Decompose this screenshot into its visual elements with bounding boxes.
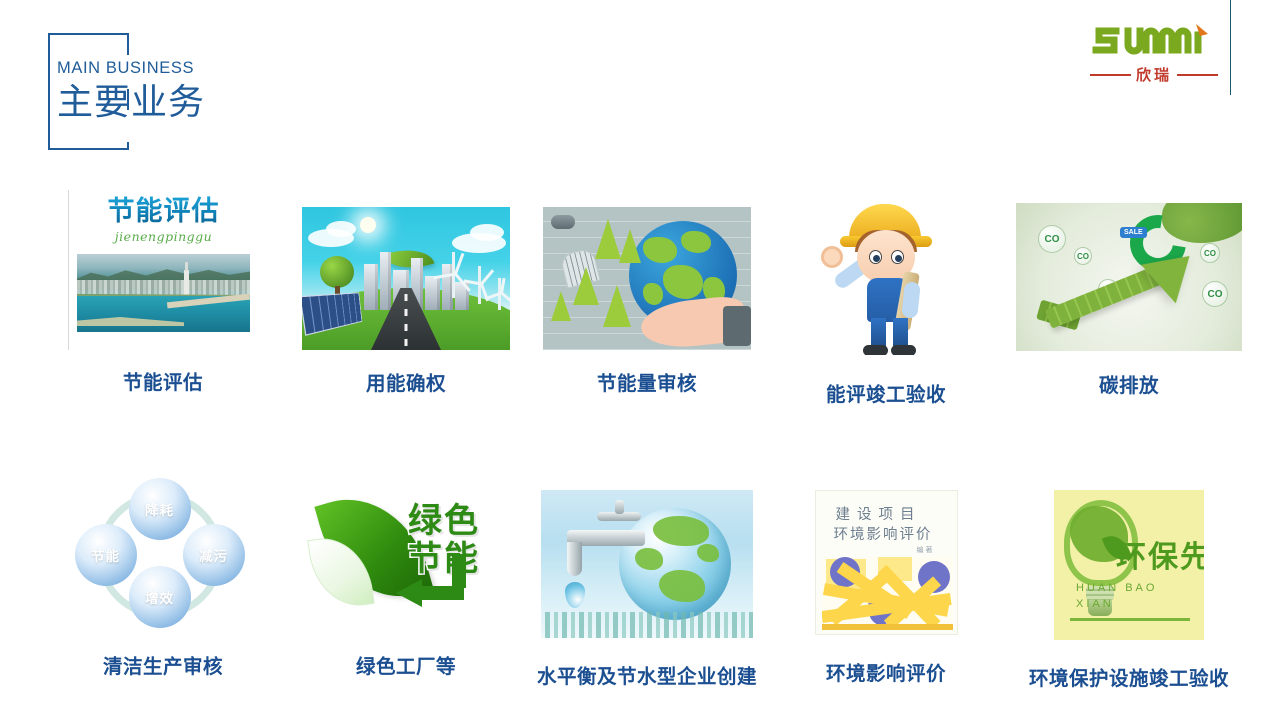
business-item-acceptance-inspection[interactable]: 能评竣工验收 [768,190,1004,407]
logo-divider-line [1230,0,1231,95]
business-item-env-facility-acceptance[interactable]: 环保先 HUAN BAO XIAN 环境保护设施竣工验收 [1004,478,1254,691]
thumb-bulb-eco-poster: 环保先 HUAN BAO XIAN [1054,490,1204,640]
ok-gesture-hand-icon [821,246,843,268]
bulb-poster-pinyin-1: HUAN BAO [1076,582,1157,594]
leaf-logo-line1: 绿色 [388,502,500,540]
business-item-energy-assessment[interactable]: 节能评估 jienengpinggu 节能评估 [48,190,278,407]
slide-root: MAIN BUSINESS 主要业务 欣瑞 [0,0,1280,720]
leaf-logo-line2: 节能 [388,540,500,578]
caption-water-balance: 水平衡及节水型企业创建 [537,660,757,689]
thumb-tap-globe [541,490,753,638]
business-item-water-balance[interactable]: 水平衡及节水型企业创建 [528,478,766,691]
poster-landscape-photo [77,254,250,332]
page-title-english: MAIN BUSINESS [57,58,477,78]
thumb-worker-cartoon [811,200,961,355]
book-cover-artwork [822,557,953,627]
poster-title-text: 节能评估 [108,196,220,228]
logo-rule-left [1090,74,1131,76]
logo-chinese-row: 欣瑞 [1090,64,1218,85]
co2-sale-badge: SALE [1120,227,1147,238]
cycle-node-right: 减污 [183,524,245,586]
cycle-node-bottom: 增效 [129,566,191,628]
caption-cleaner-production: 清洁生产审核 [103,650,223,679]
business-row-2: 降耗 节能 减污 增效 清洁生产审核 绿色 节能 绿色工厂等 [0,478,1280,691]
book-title-line1: 建设项目 [836,503,922,524]
caption-carbon-emission: 碳排放 [1099,369,1159,398]
logo-wordmark-icon [1090,22,1218,62]
company-logo: 欣瑞 [1090,22,1218,84]
thumb-energy-assessment-poster: 节能评估 jienengpinggu [68,190,258,350]
thumb-green-leaf-logo: 绿色 节能 [306,478,506,628]
caption-energy-assessment: 节能评估 [123,366,203,395]
page-title-block: MAIN BUSINESS 主要业务 [57,58,477,126]
book-author-text: 编著 [917,545,935,555]
book-title-line2: 环境影响评价 [834,523,933,544]
cycle-node-left: 节能 [75,524,137,586]
business-row-1: 节能评估 jienengpinggu 节能评估 [0,190,1280,407]
business-item-carbon-emission[interactable]: SALE CO CO CO CO CO 碳排放 [1004,190,1254,407]
thumb-carbon-arrow: SALE CO CO CO CO CO [1016,203,1242,351]
caption-energy-rights: 用能确权 [366,367,446,396]
business-item-green-factory[interactable]: 绿色 节能 绿色工厂等 [286,478,526,691]
caption-eia: 环境影响评价 [826,657,946,686]
bulb-poster-chinese: 环保先 [1116,532,1204,576]
logo-rule-right [1177,74,1218,76]
caption-env-facility-acceptance: 环境保护设施竣工验收 [1029,662,1229,691]
thumb-globe-in-hand [543,207,751,350]
business-item-energy-rights[interactable]: 用能确权 [286,190,526,407]
green-arrow-graphic [1038,247,1206,333]
thumb-eco-city [302,207,510,350]
caption-green-factory: 绿色工厂等 [356,650,456,679]
logo-chinese-name: 欣瑞 [1136,64,1172,85]
business-item-energy-saving-audit[interactable]: 节能量审核 [528,190,766,407]
business-item-eia[interactable]: 建设项目 环境影响评价 编著 环境影响评价 [768,478,1004,691]
cycle-node-top: 降耗 [129,478,191,540]
caption-energy-saving-audit: 节能量审核 [597,367,697,396]
thumb-eia-book-cover: 建设项目 环境影响评价 编著 [815,490,958,635]
poster-pinyin-text: jienengpinggu [115,229,212,244]
thumb-four-node-cycle: 降耗 节能 减污 增效 [61,478,266,628]
caption-acceptance-inspection: 能评竣工验收 [826,378,946,407]
business-item-cleaner-production[interactable]: 降耗 节能 减污 增效 清洁生产审核 [48,478,278,691]
bulb-poster-pinyin-2: XIAN [1076,598,1114,610]
leaf-logo-arrow-icon [390,574,468,604]
page-title-chinese: 主要业务 [57,80,477,126]
